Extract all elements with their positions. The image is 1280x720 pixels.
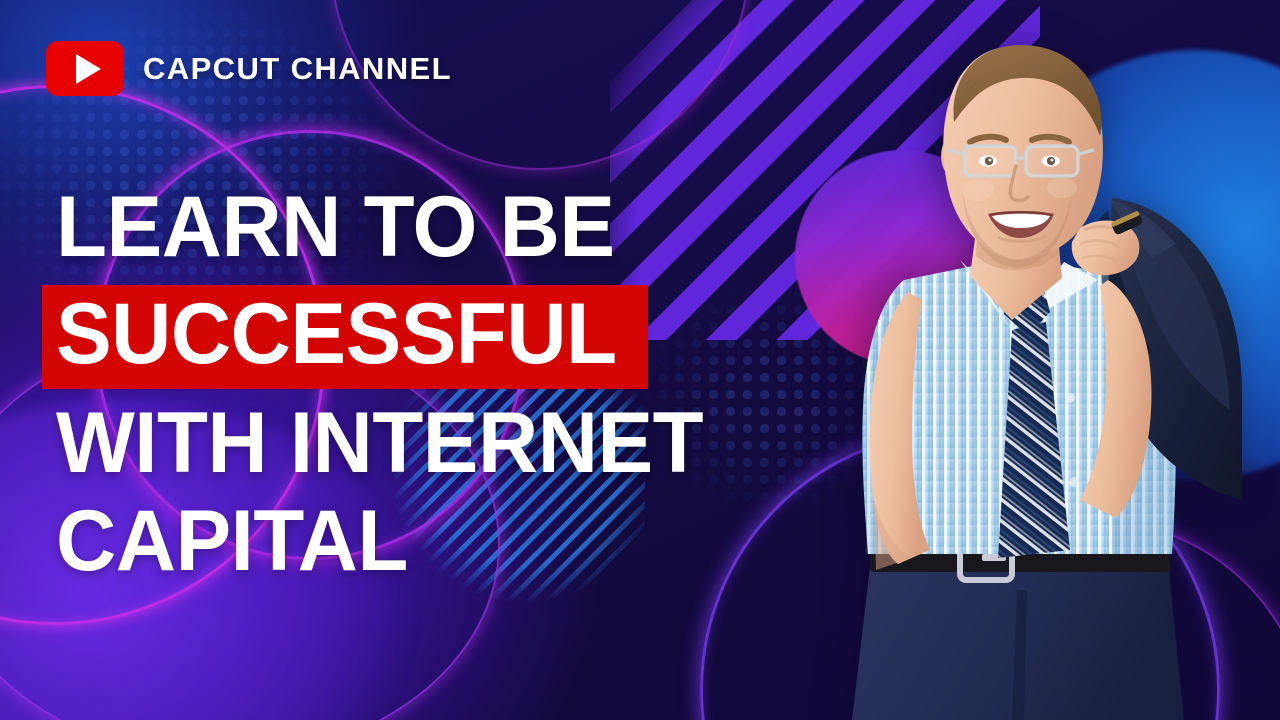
subject-portrait: [812, 30, 1242, 720]
headline-line-2: SUCCESSFUL: [56, 293, 617, 376]
youtube-thumbnail: CAPCUT CHANNEL LEARN TO BE SUCCESSFUL WI…: [0, 0, 1280, 720]
channel-name: CAPCUT CHANNEL: [143, 51, 452, 87]
headline-line-1: LEARN TO BE: [56, 186, 615, 269]
play-triangle-icon: [76, 54, 101, 84]
headline-line-3: WITH INTERNET: [56, 402, 703, 485]
headline-line-4: CAPITAL: [56, 500, 408, 583]
channel-badge: CAPCUT CHANNEL: [46, 41, 452, 96]
headline-highlight-band: SUCCESSFUL: [42, 285, 648, 388]
headline-block: LEARN TO BE SUCCESSFUL WITH INTERNET CAP…: [56, 186, 723, 584]
youtube-play-icon: [46, 41, 124, 96]
